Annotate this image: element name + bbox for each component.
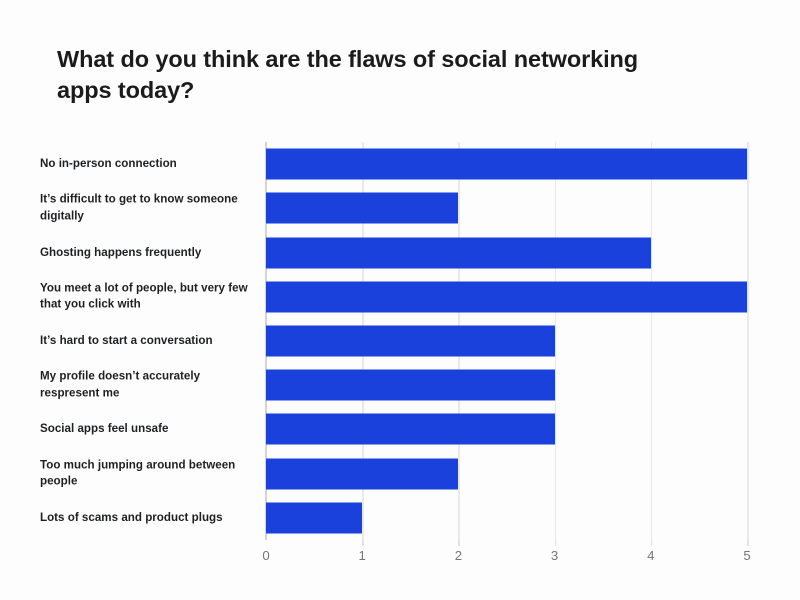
x-tick-mark-4: [651, 540, 653, 546]
category-label: Ghosting happens frequently: [40, 244, 258, 260]
bar-row: You meet a lot of people, but very few t…: [0, 275, 800, 319]
bar-row: It’s difficult to get to know someone di…: [0, 186, 800, 230]
bar[interactable]: [266, 281, 747, 312]
bar-chart-figure: What do you think are the flaws of socia…: [0, 0, 800, 600]
x-tick-mark-1: [362, 540, 364, 546]
bar-row: Lots of scams and product plugs: [0, 496, 800, 540]
category-label: Too much jumping around between people: [40, 457, 258, 490]
x-axis: 012345: [0, 540, 800, 580]
x-tick-label-2: 2: [438, 548, 478, 563]
x-tick-label-3: 3: [535, 548, 575, 563]
x-tick-label-1: 1: [342, 548, 382, 563]
bar[interactable]: [266, 502, 362, 533]
category-label: It’s hard to start a conversation: [40, 333, 258, 349]
chart-title: What do you think are the flaws of socia…: [57, 44, 677, 107]
category-label: Social apps feel unsafe: [40, 421, 258, 437]
bar[interactable]: [266, 193, 458, 224]
bar-row: Ghosting happens frequently: [0, 230, 800, 274]
x-tick-label-4: 4: [631, 548, 671, 563]
bar-row: My profile doesn’t accurately respresent…: [0, 363, 800, 407]
category-label: My profile doesn’t accurately respresent…: [40, 369, 258, 402]
x-tick-label-0: 0: [246, 548, 286, 563]
bar-row: Too much jumping around between people: [0, 452, 800, 496]
category-label: You meet a lot of people, but very few t…: [40, 280, 258, 313]
bar[interactable]: [266, 325, 555, 356]
x-tick-mark-5: [747, 540, 749, 546]
bar[interactable]: [266, 458, 458, 489]
bar[interactable]: [266, 414, 555, 445]
bar[interactable]: [266, 237, 651, 268]
bar[interactable]: [266, 370, 555, 401]
category-label: No in-person connection: [40, 156, 258, 172]
x-tick-mark-2: [458, 540, 460, 546]
x-tick-label-5: 5: [727, 548, 767, 563]
bar[interactable]: [266, 149, 747, 180]
bar-row: Social apps feel unsafe: [0, 407, 800, 451]
plot-area: No in-person connectionIt’s difficult to…: [0, 142, 800, 540]
bar-row: It’s hard to start a conversation: [0, 319, 800, 363]
x-tick-mark-3: [555, 540, 557, 546]
category-label: Lots of scams and product plugs: [40, 510, 258, 526]
category-label: It’s difficult to get to know someone di…: [40, 192, 258, 225]
bar-row: No in-person connection: [0, 142, 800, 186]
